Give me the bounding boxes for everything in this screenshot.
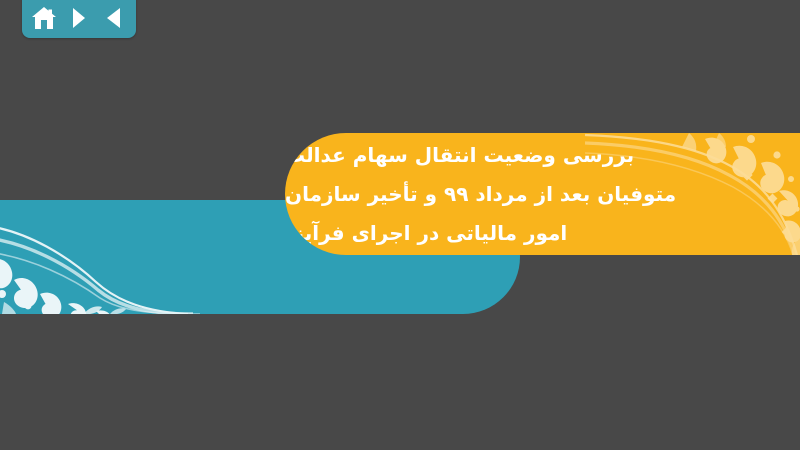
triangle-right-icon [71,7,87,29]
title-line-1: بررسی وضعیت انتقال سهام عدالت [285,136,634,175]
navigation-bar [22,0,136,38]
home-button[interactable] [31,5,57,31]
slide-canvas: بررسی وضعیت انتقال سهام عدالت متوفیان بع… [0,0,800,450]
triangle-left-icon [104,7,124,29]
home-icon [32,7,56,30]
arabesque-ornament-icon [0,200,228,314]
forward-button[interactable] [66,5,92,31]
yellow-title-band: بررسی وضعیت انتقال سهام عدالت متوفیان بع… [285,133,800,255]
back-button[interactable] [101,5,127,31]
slide-title: بررسی وضعیت انتقال سهام عدالت متوفیان بع… [285,133,800,255]
title-line-2: متوفیان بعد از مرداد ۹۹ و تأخیر سازمان [285,175,676,214]
title-line-3: امور مالیاتی در اجرای فرآیند [285,214,567,253]
